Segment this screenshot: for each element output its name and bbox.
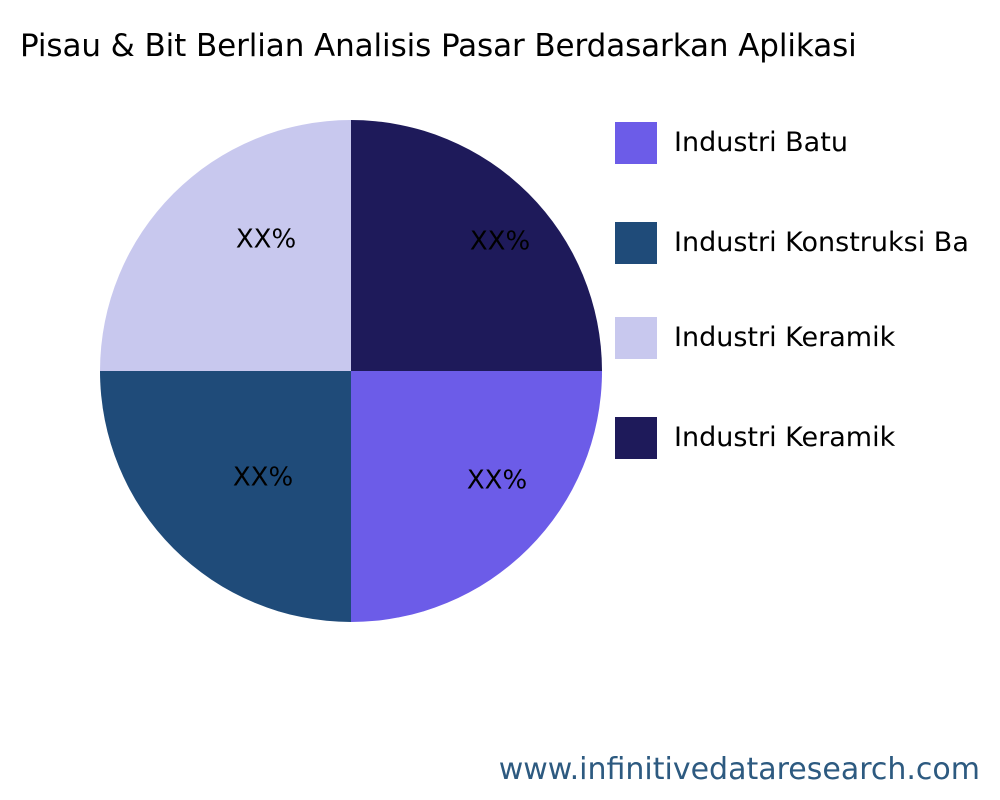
legend-label-industri-keramik-1: Industri Keramik	[674, 317, 895, 359]
pie-slice-top-left[interactable]	[100, 120, 351, 371]
chart-legend: Industri Batu Industri Konstruksi Ba Ind…	[615, 112, 1000, 472]
chart-title: Pisau & Bit Berlian Analisis Pasar Berda…	[20, 27, 980, 65]
legend-swatch-industri-keramik-2	[615, 417, 657, 459]
legend-swatch-industri-batu	[615, 122, 657, 164]
pie-slice-label-bottom-right: XX%	[467, 466, 527, 496]
pie-slice-label-top-left: XX%	[236, 225, 296, 255]
pie-chart-plot-area: XX% XX% XX% XX%	[100, 120, 602, 622]
footer-website-url[interactable]: www.infinitivedataresearch.com	[0, 752, 980, 787]
legend-label-industri-konstruksi-bangunan: Industri Konstruksi Ba	[674, 222, 969, 264]
pie-svg: XX% XX% XX% XX%	[100, 120, 602, 622]
pie-slice-label-top-right: XX%	[470, 227, 530, 257]
legend-swatch-industri-konstruksi-bangunan	[615, 222, 657, 264]
legend-label-industri-keramik-2: Industri Keramik	[674, 417, 895, 459]
legend-swatch-industri-keramik-1	[615, 317, 657, 359]
pie-slice-bottom-left[interactable]	[100, 371, 351, 622]
pie-slice-bottom-right[interactable]	[351, 371, 602, 622]
legend-label-industri-batu: Industri Batu	[674, 122, 848, 164]
pie-slice-label-bottom-left: XX%	[233, 463, 293, 493]
pie-chart-figure: Pisau & Bit Berlian Analisis Pasar Berda…	[0, 0, 1000, 800]
